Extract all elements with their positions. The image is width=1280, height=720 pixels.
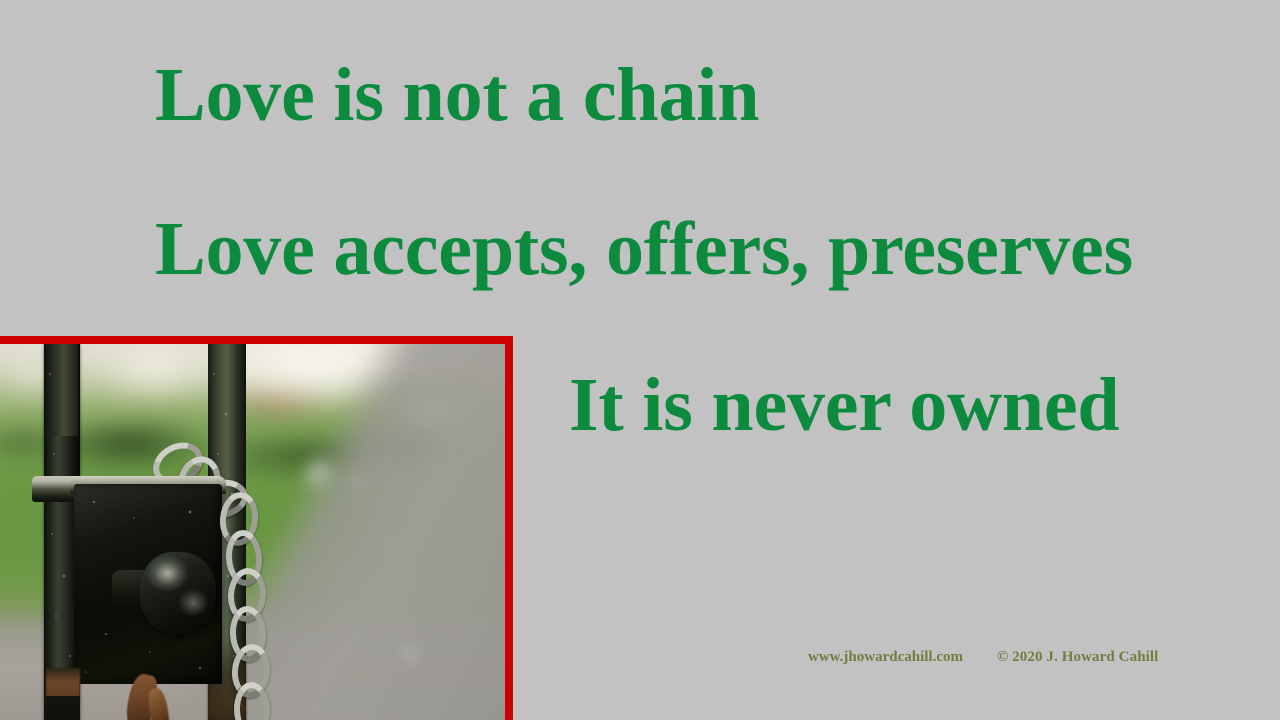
quote-line-1: Love is not a chain — [155, 57, 759, 133]
gate-post-left-top — [52, 344, 78, 436]
copyright-notice: © 2020 J. Howard Cahill — [997, 649, 1158, 666]
photo-frame — [0, 336, 513, 720]
gate-chain-photo — [0, 344, 505, 720]
padlock-body — [140, 552, 216, 634]
quote-line-2: Love accepts, offers, preserves — [155, 211, 1133, 287]
website-url[interactable]: www.jhowardcahill.com — [808, 649, 963, 666]
quote-line-3: It is never owned — [569, 367, 1119, 443]
slide-canvas: Love is not a chain Love accepts, offers… — [0, 0, 1280, 720]
gate-post-left-bottom — [46, 696, 80, 720]
footer: www.jhowardcahill.com © 2020 J. Howard C… — [808, 649, 1188, 666]
